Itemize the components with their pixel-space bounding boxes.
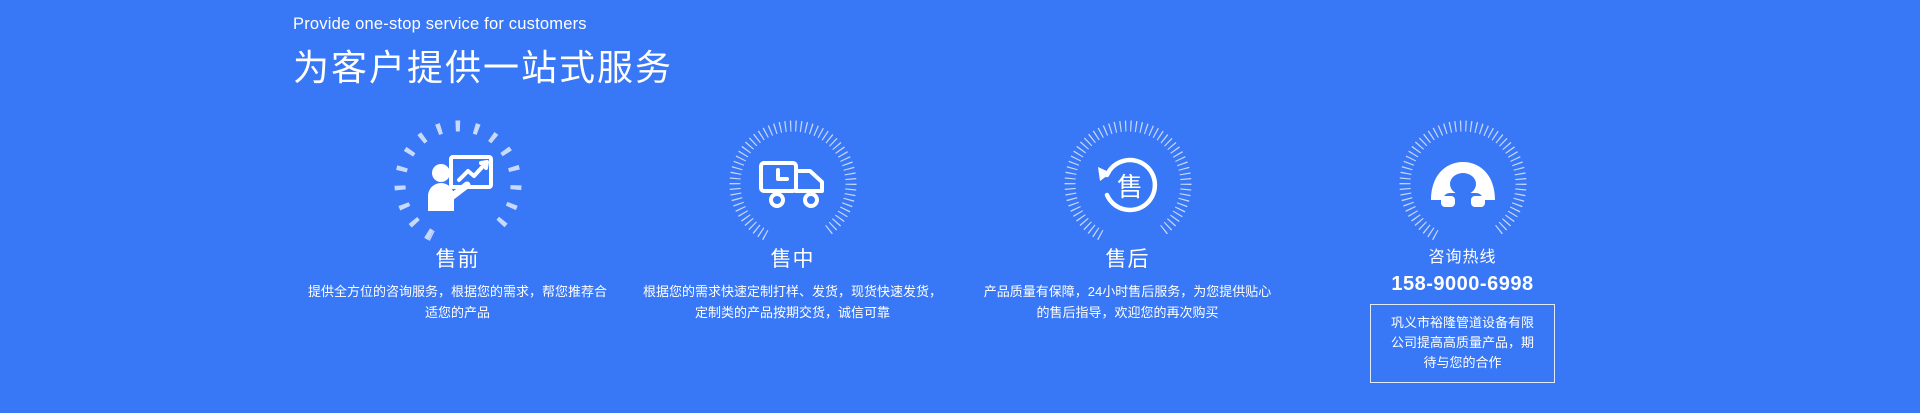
banner-subtitle-en: Provide one-stop service for customers [293,14,1193,34]
presenter-whiteboard-icon [421,147,495,221]
icon-ring-insale [727,118,859,250]
service-banner: Provide one-stop service for customers 为… [0,0,1920,413]
icon-ring-aftersale: 售 [1062,118,1194,250]
service-title-presale: 售前 [436,246,480,274]
banner-heading: Provide one-stop service for customers 为… [293,14,1193,91]
service-column-insale: 售中 根据您的需求快速定制打样、发货，现货快速发货，定制类的产品按期交货，诚信可… [625,118,960,323]
service-desc-aftersale: 产品质量有保障，24小时售后服务，为您提供贴心的售后指导，欢迎您的再次购买 [978,281,1278,323]
service-desc-insale: 根据您的需求快速定制打样、发货，现货快速发货，定制类的产品按期交货，诚信可靠 [643,281,943,323]
service-title-insale: 售中 [771,246,815,274]
service-column-presale: 售前 提供全方位的咨询服务，根据您的需求，帮您推荐合适您的产品 [290,118,625,323]
hotline-number[interactable]: 158-9000-6998 [1391,271,1533,297]
service-title-aftersale: 售后 [1106,246,1150,274]
service-column-aftersale: 售 售后 产品质量有保障，24小时售后服务，为您提供贴心的售后指导，欢迎您的再次… [960,118,1295,323]
icon-ring-presale [392,118,524,250]
after-sale-arrow-icon: 售 [1091,147,1165,221]
icon-ring-hotline [1397,118,1529,250]
service-column-hotline: 咨询热线 158-9000-6998 巩义市裕隆管道设备有限公司提高高质量产品，… [1295,118,1630,383]
service-columns: 售前 提供全方位的咨询服务，根据您的需求，帮您推荐合适您的产品 [290,118,1630,348]
telephone-icon [1426,147,1500,221]
company-note-box: 巩义市裕隆管道设备有限公司提高高质量产品，期待与您的合作 [1370,304,1555,383]
svg-text:售: 售 [1116,172,1142,202]
banner-title-cn: 为客户提供一站式服务 [293,45,1193,91]
delivery-truck-icon [756,147,830,221]
service-desc-presale: 提供全方位的咨询服务，根据您的需求，帮您推荐合适您的产品 [308,281,608,323]
